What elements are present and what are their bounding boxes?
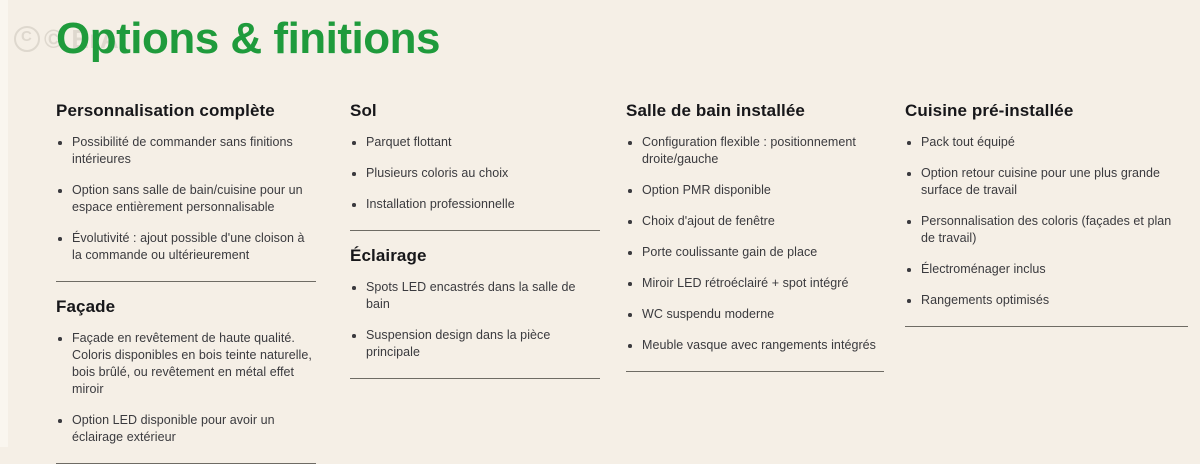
list-salle-de-bain: Configuration flexible : positionnement … <box>626 134 884 354</box>
options-finitions-page: © ErA Options & finitions Personnalisati… <box>0 0 1200 447</box>
list-item: Configuration flexible : positionnement … <box>626 134 884 168</box>
divider-eclairage <box>350 378 600 379</box>
divider-sol <box>350 230 600 231</box>
list-item: Installation professionnelle <box>350 196 600 213</box>
columns-container: Personnalisation complète Possibilité de… <box>0 100 1200 464</box>
list-item: Option sans salle de bain/cuisine pour u… <box>56 182 316 216</box>
list-item: Suspension design dans la pièce principa… <box>350 327 600 361</box>
list-facade: Façade en revêtement de haute qualité. C… <box>56 330 316 446</box>
section-title-cuisine: Cuisine pré-installée <box>905 100 1188 122</box>
list-eclairage: Spots LED encastrés dans la salle de bai… <box>350 279 600 361</box>
section-title-salle-de-bain: Salle de bain installée <box>626 100 884 122</box>
list-item: Option PMR disponible <box>626 182 884 199</box>
list-item: Plusieurs coloris au choix <box>350 165 600 182</box>
list-item: Pack tout équipé <box>905 134 1188 151</box>
block-salle-de-bain: Salle de bain installée Configuration fl… <box>626 100 884 372</box>
section-title-sol: Sol <box>350 100 600 122</box>
block-cuisine: Cuisine pré-installée Pack tout équipé O… <box>905 100 1188 327</box>
page-title: Options & finitions <box>56 13 440 65</box>
list-item: Option LED disponible pour avoir un écla… <box>56 412 316 446</box>
block-eclairage: Éclairage Spots LED encastrés dans la sa… <box>350 245 600 379</box>
column-salle-de-bain: Salle de bain installée Configuration fl… <box>618 100 900 464</box>
list-item: Spots LED encastrés dans la salle de bai… <box>350 279 600 313</box>
list-item: Rangements optimisés <box>905 292 1188 309</box>
list-sol: Parquet flottant Plusieurs coloris au ch… <box>350 134 600 213</box>
list-cuisine: Pack tout équipé Option retour cuisine p… <box>905 134 1188 309</box>
list-item: Choix d'ajout de fenêtre <box>626 213 884 230</box>
list-item: Personnalisation des coloris (façades et… <box>905 213 1188 247</box>
list-item: Possibilité de commander sans finitions … <box>56 134 316 168</box>
column-personnalisation: Personnalisation complète Possibilité de… <box>0 100 340 464</box>
copyright-icon <box>14 26 40 52</box>
list-item: Électroménager inclus <box>905 261 1188 278</box>
divider-salle-de-bain <box>626 371 884 372</box>
block-sol: Sol Parquet flottant Plusieurs coloris a… <box>350 100 600 231</box>
list-personnalisation-complete: Possibilité de commander sans finitions … <box>56 134 316 264</box>
list-item: Parquet flottant <box>350 134 600 151</box>
list-item: Façade en revêtement de haute qualité. C… <box>56 330 316 398</box>
list-item: Porte coulissante gain de place <box>626 244 884 261</box>
column-sol-eclairage: Sol Parquet flottant Plusieurs coloris a… <box>340 100 618 464</box>
list-item: WC suspendu moderne <box>626 306 884 323</box>
section-title-facade: Façade <box>56 296 316 318</box>
divider-personnalisation-complete <box>56 281 316 282</box>
block-personnalisation-complete: Personnalisation complète Possibilité de… <box>56 100 316 282</box>
divider-cuisine <box>905 326 1188 327</box>
list-item: Option retour cuisine pour une plus gran… <box>905 165 1188 199</box>
list-item: Évolutivité : ajout possible d'une clois… <box>56 230 316 264</box>
section-title-personnalisation-complete: Personnalisation complète <box>56 100 316 122</box>
block-facade: Façade Façade en revêtement de haute qua… <box>56 296 316 464</box>
section-title-eclairage: Éclairage <box>350 245 600 267</box>
column-cuisine: Cuisine pré-installée Pack tout équipé O… <box>900 100 1200 464</box>
list-item: Meuble vasque avec rangements intégrés <box>626 337 884 354</box>
list-item: Miroir LED rétroéclairé + spot intégré <box>626 275 884 292</box>
